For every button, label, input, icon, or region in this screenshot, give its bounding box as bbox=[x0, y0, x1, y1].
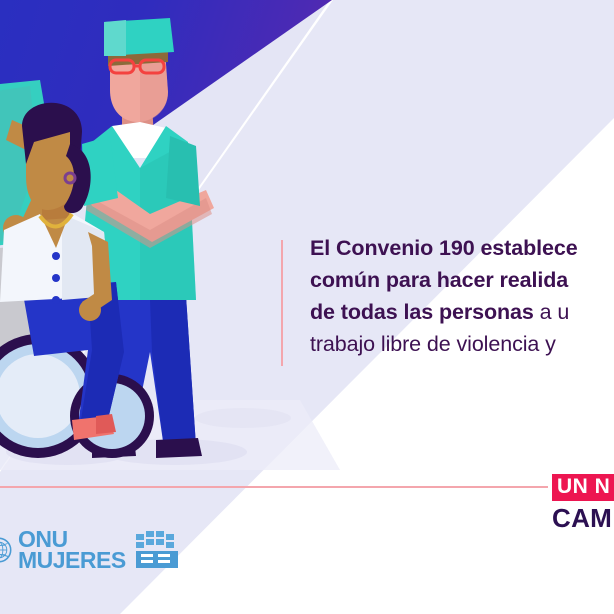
blouse-button bbox=[52, 296, 60, 304]
campaign-top-label: UN N bbox=[552, 474, 614, 501]
headline-block: El Convenio 190 establece común para hac… bbox=[310, 232, 614, 360]
headline-line-3-regular: a u bbox=[534, 300, 569, 324]
headline-line-1: El Convenio 190 establece bbox=[310, 232, 614, 264]
blouse-button bbox=[52, 252, 60, 260]
headline-line-3-bold: de todas las personas bbox=[310, 300, 534, 324]
campaign-bottom-label: CAM bbox=[552, 504, 614, 532]
onu-mujeres-wordmark: ONU MUJERES bbox=[18, 529, 126, 571]
poster-canvas: El Convenio 190 establece común para hac… bbox=[0, 0, 614, 614]
blouse-button bbox=[52, 274, 60, 282]
campaign-lockup: UN N CAM bbox=[552, 474, 614, 532]
vertical-accent-rule bbox=[281, 240, 283, 366]
headline-line-3: de todas las personas a u bbox=[310, 296, 614, 328]
headline-line-1-bold: El Convenio 190 establece bbox=[310, 236, 578, 260]
headline-line-2-bold: común para hacer realida bbox=[310, 268, 568, 292]
onu-logo-line-2: MUJERES bbox=[18, 550, 126, 571]
un-women-grid-icon bbox=[134, 530, 180, 570]
onu-mujeres-logo: ONU MUJERES bbox=[0, 528, 180, 572]
horizontal-divider-rule bbox=[0, 486, 548, 488]
headline-line-4-regular: trabajo libre de violencia y bbox=[310, 332, 556, 356]
headline-line-2: común para hacer realida bbox=[310, 264, 614, 296]
un-emblem-icon bbox=[0, 537, 12, 563]
people-illustration bbox=[0, 0, 320, 500]
headline-line-4: trabajo libre de violencia y bbox=[310, 328, 614, 360]
